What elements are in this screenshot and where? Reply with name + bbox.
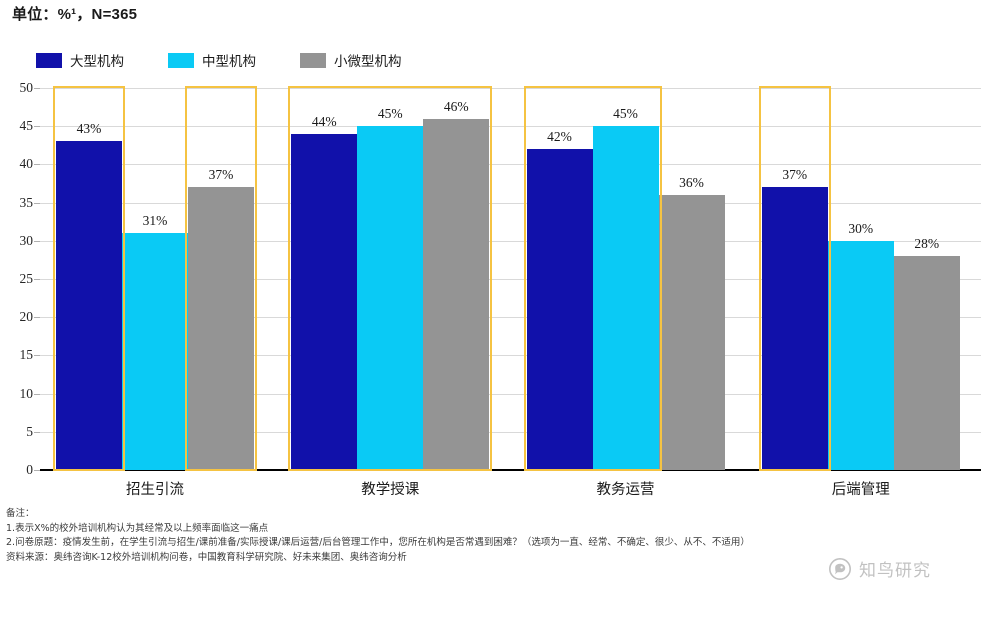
gridline: [40, 126, 981, 127]
y-tick-mark: [34, 279, 40, 280]
bar-教务运营-小微型机构[interactable]: [659, 195, 725, 470]
y-axis: 05101520253035404550: [0, 88, 33, 470]
footnotes-block: 备注： 1.表示X%的校外培训机构认为其经常及以上频率面临这一痛点 2.问卷原题…: [6, 507, 886, 565]
y-tick-label: 15: [3, 347, 33, 363]
chart-title: 单位：%¹，N=365: [12, 3, 137, 24]
gridline: [40, 88, 981, 89]
bar-教务运营-中型机构[interactable]: [593, 126, 659, 470]
y-tick-label: 40: [3, 156, 33, 172]
legend-item-label: 大型机构: [70, 50, 124, 70]
y-tick-label: 45: [3, 118, 33, 134]
bar-value-label: 37%: [209, 167, 234, 183]
y-tick-mark: [34, 355, 40, 356]
bar-教学授课-中型机构[interactable]: [357, 126, 423, 470]
bar-招生引流-小微型机构[interactable]: [188, 187, 254, 470]
x-tick-label-4: 后端管理: [832, 478, 890, 499]
footnote-heading: 备注：: [6, 507, 886, 522]
x-tick-label-1: 招生引流: [126, 478, 184, 499]
bar-后端管理-中型机构[interactable]: [828, 241, 894, 470]
bar-招生引流-大型机构[interactable]: [56, 141, 122, 470]
y-tick-mark: [34, 164, 40, 165]
bird-circle-logo-icon: [828, 557, 852, 581]
legend-swatch-medium: [168, 53, 194, 68]
watermark: 知鸟研究: [828, 556, 931, 581]
y-tick-label: 35: [3, 195, 33, 211]
x-tick-label-2: 教学授课: [361, 478, 419, 499]
bar-value-label: 45%: [378, 106, 403, 122]
chart-page: 单位：%¹，N=365 大型机构中型机构小微型机构 05101520253035…: [0, 0, 983, 619]
legend-item-1[interactable]: 大型机构: [36, 50, 124, 70]
y-tick-label: 25: [3, 271, 33, 287]
bar-教务运营-大型机构[interactable]: [527, 149, 593, 470]
watermark-text: 知鸟研究: [859, 556, 931, 581]
y-tick-mark: [34, 432, 40, 433]
bar-value-label: 42%: [547, 129, 572, 145]
legend-item-3[interactable]: 小微型机构: [300, 50, 402, 70]
gridline: [40, 203, 981, 204]
y-tick-mark: [34, 88, 40, 89]
y-tick-label: 50: [3, 80, 33, 96]
bar-教学授课-小微型机构[interactable]: [423, 119, 489, 470]
footnote-1: 1.表示X%的校外培训机构认为其经常及以上频率面临这一痛点: [6, 522, 886, 537]
bar-value-label: 36%: [679, 175, 704, 191]
footnote-2: 2.问卷原题：疫情发生前，在学生引流与招生/课前准备/实际授课/课后运营/后台管…: [6, 536, 886, 551]
footnote-source: 资料来源：奥纬咨询K-12校外培训机构问卷，中国教育科学研究院、好未来集团、奥纬…: [6, 551, 886, 566]
bar-value-label: 28%: [914, 236, 939, 252]
gridline: [40, 164, 981, 165]
bar-value-label: 30%: [848, 221, 873, 237]
legend-item-label: 小微型机构: [334, 50, 402, 70]
y-tick-mark: [34, 394, 40, 395]
bar-后端管理-小微型机构[interactable]: [894, 256, 960, 470]
legend-swatch-small: [300, 53, 326, 68]
y-tick-mark: [34, 317, 40, 318]
bar-教学授课-大型机构[interactable]: [291, 134, 357, 470]
plot-area: 43%31%37%44%45%46%42%45%36%37%30%28%: [40, 88, 981, 470]
y-tick-label: 10: [3, 386, 33, 402]
chart-legend: 大型机构中型机构小微型机构: [36, 50, 446, 70]
legend-swatch-large: [36, 53, 62, 68]
bar-value-label: 44%: [312, 114, 337, 130]
y-tick-label: 5: [3, 424, 33, 440]
y-tick-mark: [34, 241, 40, 242]
y-tick-mark: [34, 203, 40, 204]
bar-value-label: 45%: [613, 106, 638, 122]
x-axis: 招生引流教学授课教务运营后端管理: [40, 478, 981, 502]
bar-value-label: 46%: [444, 99, 469, 115]
bar-value-label: 37%: [782, 167, 807, 183]
bar-招生引流-中型机构[interactable]: [122, 233, 188, 470]
y-tick-label: 30: [3, 233, 33, 249]
legend-item-2[interactable]: 中型机构: [168, 50, 256, 70]
y-tick-label: 0: [3, 462, 33, 478]
y-tick-mark: [34, 470, 40, 471]
bar-value-label: 31%: [143, 213, 168, 229]
y-tick-label: 20: [3, 309, 33, 325]
bar-后端管理-大型机构[interactable]: [762, 187, 828, 470]
y-tick-mark: [34, 126, 40, 127]
x-tick-label-3: 教务运营: [597, 478, 655, 499]
bar-value-label: 43%: [77, 121, 102, 137]
legend-item-label: 中型机构: [202, 50, 256, 70]
